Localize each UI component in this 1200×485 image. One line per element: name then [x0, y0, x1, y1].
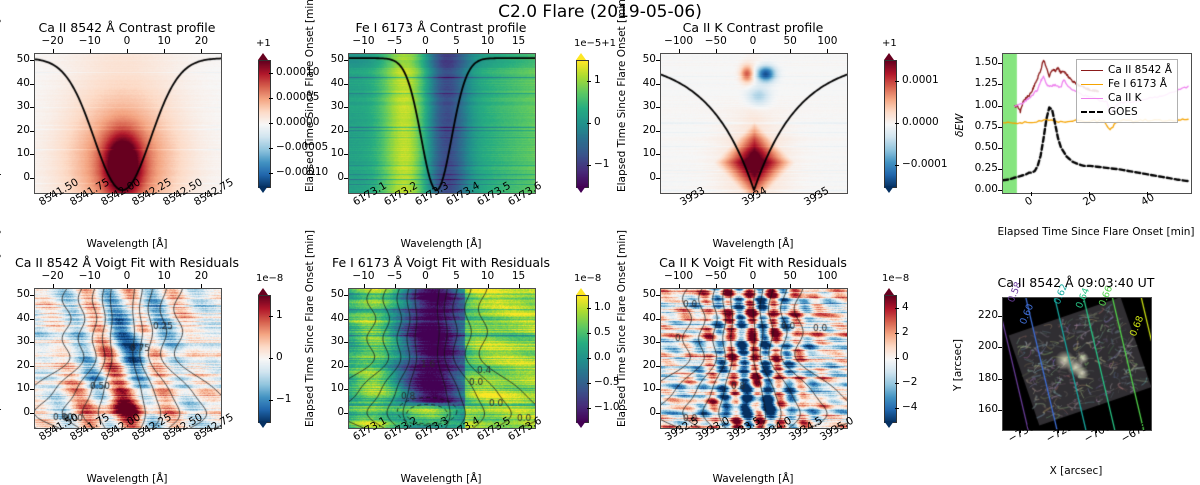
- xtick-top-cak_voigt-3: 50: [774, 270, 806, 282]
- xtickmark-bot-fe6173_contrast-0: [364, 192, 365, 196]
- ci-xtickmark-2: [1096, 429, 1097, 433]
- colorbar-tick-ca8542_contrast-3: −0.00005: [276, 141, 328, 153]
- xtickmark-top-ca8542_contrast-0: [53, 49, 54, 53]
- xtickmark-bot-fe6173_voigt-3: [457, 427, 458, 431]
- xtickmark-bot-cak_voigt-4: [800, 427, 801, 431]
- xtick-top-fe6173_contrast-1: −5: [379, 35, 411, 47]
- xtickmark-top-fe6173_voigt-3: [457, 284, 458, 288]
- lc-ytickmark-2: [998, 148, 1002, 149]
- ytick-ca8542_contrast-5: 50: [8, 53, 30, 65]
- lc-ytick-3: 0.75: [968, 120, 998, 132]
- colorbar-tickmark-fe6173_contrast-1: [587, 123, 591, 124]
- ytick-fe6173_contrast-4: 40: [322, 77, 344, 89]
- colorbar-offset-label-ca8542_contrast: +1: [256, 38, 271, 49]
- xtick-top-cak_voigt-2: 0: [737, 270, 769, 282]
- colorbar-extend-bottom-fe6173_voigt: [576, 421, 586, 428]
- title-fe6173_voigt: Fe I 6173 Å Voigt Fit with Residuals: [288, 255, 594, 270]
- xtickmark-top-cak_contrast-4: [827, 49, 828, 53]
- ytickmark-cak_contrast-3: [656, 107, 660, 108]
- colorbar-gradient-fe6173_contrast: [577, 61, 588, 187]
- colorbar-tickmark-cak_voigt-4: [895, 408, 899, 409]
- spectrogram-fe6173_voigt: [349, 289, 535, 428]
- ytick-fe6173_voigt-2: 20: [322, 359, 344, 371]
- ytickmark-ca8542_contrast-5: [30, 60, 34, 61]
- colorbar-tickmark-cak_contrast-0: [895, 81, 899, 82]
- ytick-ca8542_voigt-3: 30: [8, 335, 30, 347]
- legend-label-0: Ca II 8542 Å: [1108, 64, 1172, 76]
- ytick-ca8542_contrast-3: 30: [8, 100, 30, 112]
- ytick-ca8542_contrast-2: 20: [8, 124, 30, 136]
- ytickmark-ca8542_voigt-2: [30, 366, 34, 367]
- colorbar-tickmark-ca8542_contrast-1: [269, 98, 273, 99]
- ytick-ca8542_voigt-0: 0: [8, 406, 30, 418]
- ytickmark-fe6173_voigt-4: [344, 319, 348, 320]
- xlabel-cak_contrast: Wavelength [Å]: [660, 238, 846, 250]
- ytick-cak_contrast-1: 10: [634, 147, 656, 159]
- ytickmark-cak_contrast-1: [656, 154, 660, 155]
- colorbar-tickmark-fe6173_contrast-0: [587, 81, 591, 82]
- ytick-fe6173_voigt-4: 40: [322, 312, 344, 324]
- legend-row-1: Fe I 6173 Å: [1081, 77, 1172, 91]
- colorbar-tick-ca8542_voigt-1: 0: [276, 351, 283, 363]
- ytickmark-ca8542_voigt-1: [30, 389, 34, 390]
- ylabel-ca8542_contrast: Elapsed Time Since Flare Onset [min]: [0, 0, 2, 192]
- ytick-cak_contrast-2: 20: [634, 124, 656, 136]
- colorbar-tick-fe6173_voigt-4: −1.0: [594, 401, 620, 413]
- xtickmark-bot-cak_voigt-0: [676, 427, 677, 431]
- colorbar-tickmark-fe6173_voigt-3: [587, 383, 591, 384]
- legend-label-1: Fe I 6173 Å: [1108, 78, 1167, 90]
- panel-ca8542_contrast: [34, 53, 222, 194]
- colorbar-extend-top-cak_voigt: [884, 288, 894, 295]
- xtickmark-top-fe6173_voigt-1: [395, 284, 396, 288]
- ytickmark-cak_contrast-2: [656, 131, 660, 132]
- ytickmark-fe6173_contrast-0: [344, 178, 348, 179]
- colorbar-gradient-ca8542_contrast: [259, 61, 270, 187]
- colorbar-tickmark-cak_contrast-2: [895, 165, 899, 166]
- xtickmark-bot-ca8542_contrast-5: [205, 192, 206, 196]
- spectrogram-ca8542_voigt: [35, 289, 221, 428]
- colorbar-extend-top-ca8542_contrast: [258, 53, 268, 60]
- ytickmark-fe6173_voigt-2: [344, 366, 348, 367]
- ytick-ca8542_voigt-1: 10: [8, 382, 30, 394]
- ci-xtickmark-0: [1020, 429, 1021, 433]
- legend-row-2: Ca II K: [1081, 91, 1172, 105]
- xtick-top-fe6173_voigt-0: −10: [348, 270, 380, 282]
- colorbar-gradient-cak_contrast: [885, 61, 896, 187]
- xtickmark-bot-ca8542_voigt-5: [205, 427, 206, 431]
- figure-suptitle: C2.0 Flare (2019-05-06): [0, 2, 1200, 22]
- colorbar-extend-top-cak_contrast: [884, 53, 894, 60]
- colorbar-offset-label-ca8542_voigt: 1e−8: [256, 273, 283, 284]
- xtickmark-top-ca8542_contrast-2: [127, 49, 128, 53]
- xtick-top-ca8542_contrast-3: 10: [148, 35, 180, 47]
- ytickmark-fe6173_contrast-2: [344, 131, 348, 132]
- colorbar-tickmark-ca8542_voigt-1: [269, 358, 273, 359]
- ytick-cak_voigt-1: 10: [634, 382, 656, 394]
- xtickmark-top-cak_voigt-0: [679, 284, 680, 288]
- ytick-ca8542_voigt-4: 40: [8, 312, 30, 324]
- colorbar-offset-label-fe6173_voigt: 1e−8: [574, 273, 601, 284]
- lc-ytickmark-5: [998, 84, 1002, 85]
- ytick-cak_voigt-3: 30: [634, 335, 656, 347]
- colorbar-tickmark-ca8542_contrast-4: [269, 173, 273, 174]
- ci-xtickmark-3: [1133, 429, 1134, 433]
- ytick-cak_voigt-5: 50: [634, 288, 656, 300]
- ytickmark-ca8542_contrast-2: [30, 131, 34, 132]
- xtickmark-bot-ca8542_contrast-1: [81, 192, 82, 196]
- xtick-top-fe6173_contrast-2: 0: [410, 35, 442, 47]
- colorbar-tickmark-fe6173_contrast-2: [587, 165, 591, 166]
- ytickmark-ca8542_voigt-3: [30, 342, 34, 343]
- xtickmark-bot-ca8542_contrast-2: [112, 192, 113, 196]
- xtickmark-bot-cak_contrast-2: [815, 192, 816, 196]
- xtick-top-ca8542_voigt-3: 10: [148, 270, 180, 282]
- ytickmark-ca8542_voigt-0: [30, 413, 34, 414]
- xtickmark-top-fe6173_voigt-0: [364, 284, 365, 288]
- ylabel-fe6173_voigt: Elapsed Time Since Flare Onset [min]: [304, 230, 316, 427]
- xtickmark-bot-fe6173_contrast-2: [426, 192, 427, 196]
- xtickmark-bot-ca8542_voigt-2: [112, 427, 113, 431]
- legend-row-3: GOES: [1081, 105, 1172, 119]
- ytickmark-ca8542_contrast-4: [30, 84, 34, 85]
- colorbar-tickmark-cak_voigt-1: [895, 333, 899, 334]
- lc-ytickmark-3: [998, 127, 1002, 128]
- xtickmark-top-ca8542_voigt-3: [164, 284, 165, 288]
- ci-ylabel: Y [arcsec]: [952, 339, 964, 391]
- title-context-image: Ca II 8542 Å 09:03:40 UT: [962, 275, 1190, 290]
- colorbar-tick-fe6173_contrast-1: 0: [594, 116, 601, 128]
- ytickmark-fe6173_voigt-0: [344, 413, 348, 414]
- lc-xlabel: Elapsed Time Since Flare Onset [min]: [982, 226, 1200, 238]
- colorbar-extend-top-fe6173_voigt: [576, 288, 586, 295]
- ci-ytickmark-1: [998, 379, 1002, 380]
- ytickmark-fe6173_voigt-3: [344, 342, 348, 343]
- xtick-top-cak_contrast-0: −100: [663, 35, 695, 47]
- ytick-fe6173_contrast-5: 50: [322, 53, 344, 65]
- legend-line-2: [1081, 98, 1103, 99]
- colorbar-tickmark-cak_voigt-0: [895, 308, 899, 309]
- xtickmark-bot-fe6173_contrast-5: [519, 192, 520, 196]
- colorbar-tick-ca8542_voigt-2: −1: [276, 393, 291, 405]
- xtick-top-cak_voigt-1: −50: [700, 270, 732, 282]
- colorbar-tick-ca8542_voigt-0: 1: [276, 309, 283, 321]
- ytick-cak_contrast-4: 40: [634, 77, 656, 89]
- ytickmark-cak_voigt-4: [656, 319, 660, 320]
- xtick-top-fe6173_contrast-5: 15: [503, 35, 535, 47]
- ytick-ca8542_contrast-0: 0: [8, 171, 30, 183]
- colorbar-tick-fe6173_voigt-3: −0.5: [594, 376, 620, 388]
- legend-label-3: GOES: [1108, 106, 1138, 118]
- xtickmark-top-fe6173_voigt-5: [519, 284, 520, 288]
- xtickmark-bot-fe6173_contrast-4: [488, 192, 489, 196]
- colorbar-extend-top-fe6173_contrast: [576, 53, 586, 60]
- lc-xtickmark-2: [1147, 192, 1148, 196]
- title-fe6173_contrast: Fe I 6173 Å Contrast profile: [288, 20, 594, 35]
- lc-ytick-4: 1.00: [968, 99, 998, 111]
- colorbar-extend-bottom-cak_voigt: [884, 421, 894, 428]
- ytick-fe6173_contrast-3: 30: [322, 100, 344, 112]
- xtickmark-bot-ca8542_contrast-3: [143, 192, 144, 196]
- colorbar-tickmark-ca8542_contrast-0: [269, 73, 273, 74]
- lc-ytick-6: 1.50: [968, 56, 998, 68]
- ytickmark-fe6173_voigt-1: [344, 389, 348, 390]
- lc-ylabel: δEW: [954, 113, 966, 136]
- colorbar-extend-bottom-ca8542_voigt: [258, 421, 268, 428]
- colorbar-offset-label-cak_voigt: 1e−8: [882, 273, 909, 284]
- xtickmark-bot-cak_contrast-0: [691, 192, 692, 196]
- colorbar-tick-cak_voigt-4: −4: [902, 401, 917, 413]
- ytickmark-cak_contrast-4: [656, 84, 660, 85]
- xtickmark-top-cak_contrast-3: [790, 49, 791, 53]
- lc-ytick-5: 1.25: [968, 77, 998, 89]
- ytick-fe6173_voigt-3: 30: [322, 335, 344, 347]
- lc-ytickmark-4: [998, 106, 1002, 107]
- ytick-fe6173_voigt-0: 0: [322, 406, 344, 418]
- xtickmark-top-ca8542_voigt-0: [53, 284, 54, 288]
- ytickmark-cak_voigt-3: [656, 342, 660, 343]
- xtick-top-cak_contrast-2: 0: [737, 35, 769, 47]
- xtick-top-ca8542_contrast-0: −20: [37, 35, 69, 47]
- ytick-ca8542_contrast-1: 10: [8, 147, 30, 159]
- colorbar-gradient-fe6173_voigt: [577, 296, 588, 422]
- colorbar-tickmark-ca8542_contrast-2: [269, 123, 273, 124]
- xtickmark-top-cak_voigt-3: [790, 284, 791, 288]
- ytickmark-cak_contrast-5: [656, 60, 660, 61]
- ci-ytick-3: 220: [968, 309, 998, 321]
- colorbar-tickmark-cak_voigt-2: [895, 358, 899, 359]
- lightcurve-legend: Ca II 8542 ÅFe I 6173 ÅCa II KGOES: [1076, 59, 1178, 123]
- ytick-fe6173_voigt-5: 50: [322, 288, 344, 300]
- xtickmark-top-cak_voigt-1: [716, 284, 717, 288]
- xtickmark-top-ca8542_contrast-3: [164, 49, 165, 53]
- xtick-top-cak_voigt-0: −100: [663, 270, 695, 282]
- xtick-top-ca8542_voigt-1: −10: [74, 270, 106, 282]
- colorbar-body-cak_contrast: [884, 60, 897, 188]
- colorbar-tick-fe6173_contrast-2: −1: [594, 158, 609, 170]
- xtick-top-ca8542_voigt-4: 20: [185, 270, 217, 282]
- xtickmark-top-ca8542_voigt-1: [90, 284, 91, 288]
- panel-cak_contrast: [660, 53, 848, 194]
- colorbar-body-ca8542_voigt: [258, 295, 271, 423]
- colorbar-tick-cak_contrast-0: 0.0001: [902, 74, 939, 86]
- colorbar-body-ca8542_contrast: [258, 60, 271, 188]
- panel-fe6173_contrast: [348, 53, 536, 194]
- xtick-top-fe6173_contrast-0: −10: [348, 35, 380, 47]
- ytick-cak_contrast-5: 50: [634, 53, 656, 65]
- colorbar-tickmark-ca8542_voigt-2: [269, 400, 273, 401]
- spectrogram-ca8542_contrast: [35, 54, 221, 193]
- colorbar-tick-cak_contrast-1: 0.0000: [902, 116, 939, 128]
- xtickmark-top-fe6173_voigt-2: [426, 284, 427, 288]
- lc-ytick-1: 0.25: [968, 162, 998, 174]
- colorbar-tickmark-fe6173_voigt-1: [587, 333, 591, 334]
- xtick-top-ca8542_contrast-4: 20: [185, 35, 217, 47]
- xtickmark-bot-ca8542_contrast-0: [50, 192, 51, 196]
- lc-ytickmark-1: [998, 169, 1002, 170]
- ytickmark-ca8542_contrast-0: [30, 178, 34, 179]
- xlabel-fe6173_contrast: Wavelength [Å]: [348, 238, 534, 250]
- lc-xtick-0: 0: [1023, 195, 1035, 209]
- xtick-top-fe6173_contrast-4: 10: [472, 35, 504, 47]
- title-cak_voigt: Ca II K Voigt Fit with Residuals: [600, 255, 906, 270]
- colorbar-tick-ca8542_contrast-0: 0.00010: [276, 66, 319, 78]
- colorbar-tick-ca8542_contrast-1: 0.00005: [276, 91, 319, 103]
- panel-ca8542_voigt: [34, 288, 222, 429]
- panel-cak_voigt: [660, 288, 848, 429]
- panel-fe6173_voigt: [348, 288, 536, 429]
- colorbar-offset-label-fe6173_contrast: 1e−5+1: [574, 38, 616, 49]
- ytickmark-fe6173_contrast-5: [344, 60, 348, 61]
- colorbar-tick-cak_contrast-2: −0.0001: [902, 158, 948, 170]
- ytick-fe6173_voigt-1: 10: [322, 382, 344, 394]
- xtickmark-bot-fe6173_voigt-1: [395, 427, 396, 431]
- colorbar-tick-fe6173_contrast-0: 1: [594, 74, 601, 86]
- spectrogram-cak_voigt: [661, 289, 847, 428]
- ci-ytickmark-2: [998, 347, 1002, 348]
- legend-line-3: [1081, 111, 1103, 113]
- colorbar-extend-bottom-ca8542_contrast: [258, 186, 268, 193]
- ytick-cak_voigt-0: 0: [634, 406, 656, 418]
- xtickmark-bot-fe6173_contrast-1: [395, 192, 396, 196]
- ci-ytick-1: 180: [968, 372, 998, 384]
- ytickmark-cak_voigt-5: [656, 295, 660, 296]
- ytick-ca8542_voigt-5: 50: [8, 288, 30, 300]
- xtickmark-top-cak_voigt-2: [753, 284, 754, 288]
- xtickmark-bot-cak_contrast-1: [753, 192, 754, 196]
- ci-ytickmark-3: [998, 316, 1002, 317]
- xtickmark-bot-ca8542_voigt-4: [174, 427, 175, 431]
- xtick-top-cak_contrast-1: −50: [700, 35, 732, 47]
- xtickmark-bot-fe6173_voigt-2: [426, 427, 427, 431]
- colorbar-body-fe6173_contrast: [576, 60, 589, 188]
- xtick-top-cak_contrast-3: 50: [774, 35, 806, 47]
- ylabel-ca8542_voigt: Elapsed Time Since Flare Onset [min]: [0, 230, 2, 427]
- lc-ytick-0: 0.00: [968, 183, 998, 195]
- lc-ytickmark-0: [998, 190, 1002, 191]
- colorbar-body-cak_voigt: [884, 295, 897, 423]
- ytickmark-cak_voigt-2: [656, 366, 660, 367]
- colorbar-tick-fe6173_voigt-0: 1.0: [594, 301, 611, 313]
- xtick-top-fe6173_contrast-3: 5: [441, 35, 473, 47]
- colorbar-tickmark-fe6173_voigt-4: [587, 408, 591, 409]
- title-ca8542_contrast: Ca II 8542 Å Contrast profile: [0, 20, 280, 35]
- ytickmark-cak_voigt-1: [656, 389, 660, 390]
- lc-ytickmark-6: [998, 63, 1002, 64]
- xtickmark-bot-ca8542_contrast-4: [174, 192, 175, 196]
- spectrogram-fe6173_contrast: [349, 54, 535, 193]
- ci-ytick-2: 200: [968, 340, 998, 352]
- figure-root: C2.0 Flare (2019-05-06) Ca II 8542 Å Con…: [0, 0, 1200, 475]
- xtickmark-top-ca8542_voigt-2: [127, 284, 128, 288]
- ytickmark-cak_voigt-0: [656, 413, 660, 414]
- ytickmark-fe6173_contrast-1: [344, 154, 348, 155]
- colorbar-tick-cak_voigt-1: 2: [902, 326, 909, 338]
- colorbar-body-fe6173_voigt: [576, 295, 589, 423]
- xtickmark-top-fe6173_contrast-2: [426, 49, 427, 53]
- xtickmark-top-fe6173_contrast-0: [364, 49, 365, 53]
- ytickmark-ca8542_contrast-1: [30, 154, 34, 155]
- ytick-ca8542_voigt-2: 20: [8, 359, 30, 371]
- xtickmark-bot-cak_voigt-1: [707, 427, 708, 431]
- colorbar-extend-bottom-cak_contrast: [884, 186, 894, 193]
- ci-xlabel: X [arcsec]: [1002, 465, 1150, 477]
- xtick-top-ca8542_contrast-2: 0: [111, 35, 143, 47]
- colorbar-gradient-cak_voigt: [885, 296, 896, 422]
- xtick-top-fe6173_voigt-3: 5: [441, 270, 473, 282]
- ci-ytick-0: 160: [968, 403, 998, 415]
- xtickmark-bot-ca8542_voigt-0: [50, 427, 51, 431]
- xtickmark-bot-ca8542_voigt-3: [143, 427, 144, 431]
- ylabel-cak_contrast: Elapsed Time Since Flare Onset [min]: [616, 0, 628, 192]
- xlabel-ca8542_contrast: Wavelength [Å]: [34, 238, 220, 250]
- ytick-cak_voigt-2: 20: [634, 359, 656, 371]
- xtick-top-ca8542_voigt-0: −20: [37, 270, 69, 282]
- legend-row-0: Ca II 8542 Å: [1081, 63, 1172, 77]
- xtick-top-cak_voigt-4: 100: [811, 270, 843, 282]
- legend-label-2: Ca II K: [1108, 92, 1142, 104]
- ytick-cak_contrast-3: 30: [634, 100, 656, 112]
- colorbar-extend-top-ca8542_voigt: [258, 288, 268, 295]
- colorbar-tick-ca8542_contrast-2: 0.00000: [276, 116, 319, 128]
- xtickmark-top-cak_contrast-0: [679, 49, 680, 53]
- xtickmark-top-fe6173_contrast-4: [488, 49, 489, 53]
- colorbar-tick-cak_voigt-3: −2: [902, 376, 917, 388]
- ytickmark-ca8542_contrast-3: [30, 107, 34, 108]
- ytickmark-ca8542_voigt-4: [30, 319, 34, 320]
- ytick-fe6173_contrast-2: 20: [322, 124, 344, 136]
- colorbar-tick-fe6173_voigt-2: 0.0: [594, 351, 611, 363]
- xtick-top-ca8542_contrast-1: −10: [74, 35, 106, 47]
- xtickmark-top-fe6173_contrast-1: [395, 49, 396, 53]
- ytick-ca8542_contrast-4: 40: [8, 77, 30, 89]
- lc-ytick-2: 0.50: [968, 141, 998, 153]
- colorbar-gradient-ca8542_voigt: [259, 296, 270, 422]
- legend-line-0: [1081, 70, 1103, 71]
- xtickmark-top-fe6173_contrast-3: [457, 49, 458, 53]
- xtickmark-top-cak_contrast-2: [753, 49, 754, 53]
- xtickmark-top-cak_voigt-4: [827, 284, 828, 288]
- colorbar-offset-label-cak_contrast: +1: [882, 38, 897, 49]
- xtick-top-fe6173_voigt-2: 0: [410, 270, 442, 282]
- ytickmark-fe6173_contrast-3: [344, 107, 348, 108]
- colorbar-tickmark-cak_contrast-1: [895, 123, 899, 124]
- colorbar-tick-cak_voigt-2: 0: [902, 351, 909, 363]
- xtickmark-bot-cak_voigt-2: [738, 427, 739, 431]
- ytickmark-fe6173_voigt-5: [344, 295, 348, 296]
- colorbar-tickmark-cak_voigt-3: [895, 383, 899, 384]
- xtickmark-bot-fe6173_voigt-0: [364, 427, 365, 431]
- ytick-cak_voigt-4: 40: [634, 312, 656, 324]
- spectrogram-cak_contrast: [661, 54, 847, 193]
- title-cak_contrast: Ca II K Contrast profile: [600, 20, 906, 35]
- ylabel-cak_voigt: Elapsed Time Since Flare Onset [min]: [616, 230, 628, 427]
- xtickmark-top-ca8542_voigt-4: [201, 284, 202, 288]
- xtickmark-top-cak_contrast-1: [716, 49, 717, 53]
- xtickmark-top-fe6173_voigt-4: [488, 284, 489, 288]
- lc-xtickmark-1: [1089, 192, 1090, 196]
- colorbar-tickmark-ca8542_contrast-3: [269, 148, 273, 149]
- colorbar-tickmark-ca8542_voigt-0: [269, 316, 273, 317]
- xtick-top-fe6173_voigt-4: 10: [472, 270, 504, 282]
- colorbar-tick-fe6173_voigt-1: 0.5: [594, 326, 611, 338]
- colorbar-tick-cak_voigt-0: 4: [902, 301, 909, 313]
- ci-xtickmark-1: [1058, 429, 1059, 433]
- legend-line-1: [1081, 84, 1103, 85]
- lc-xtickmark-0: [1031, 192, 1032, 196]
- xtickmark-top-fe6173_contrast-5: [519, 49, 520, 53]
- xtickmark-bot-fe6173_contrast-3: [457, 192, 458, 196]
